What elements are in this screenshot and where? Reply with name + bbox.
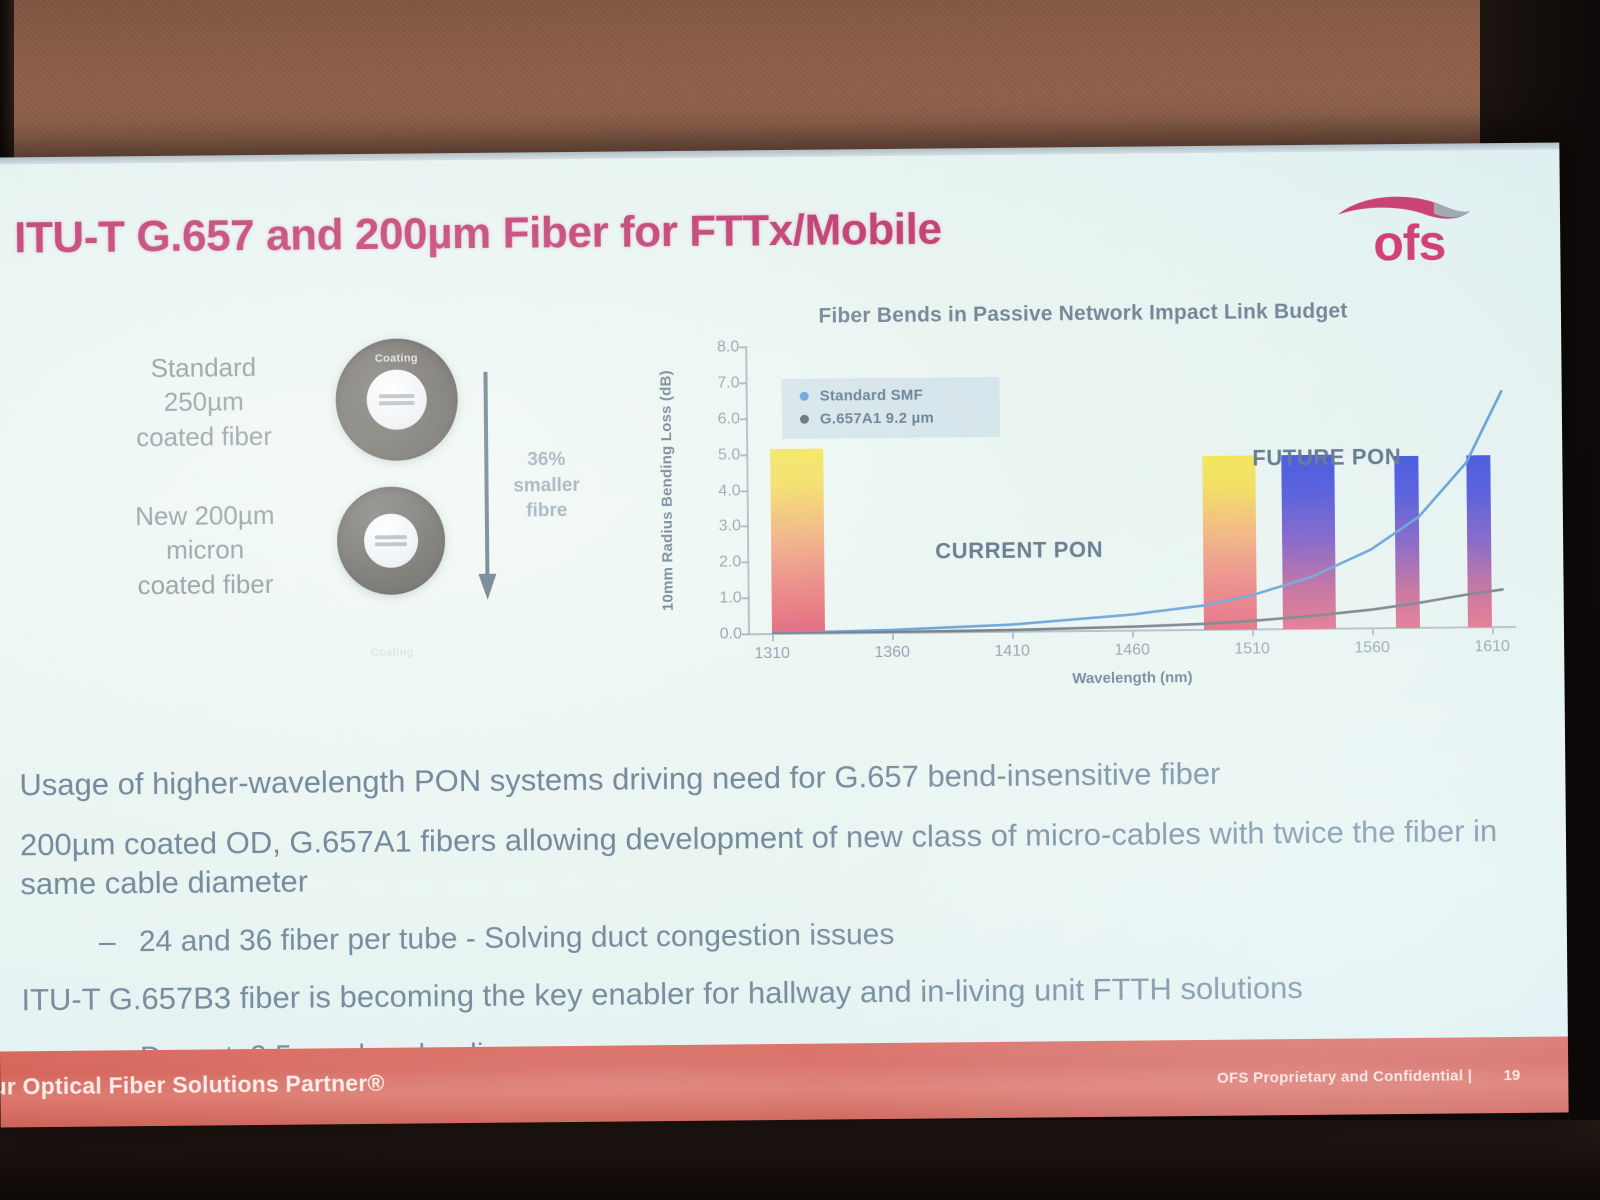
chart-x-tick-label: 1610	[1474, 638, 1510, 656]
chart-y-tick-label: 8.0	[681, 338, 739, 357]
wall-bottom-edge	[0, 1120, 1600, 1200]
footer-page-number: 19	[1503, 1067, 1520, 1084]
chart-x-tick-mark	[892, 633, 894, 640]
chart-x-tick-mark	[772, 634, 774, 641]
core-stripes-icon	[379, 391, 415, 408]
reduction-word1: smaller	[500, 472, 592, 499]
chart-y-tick-label: 5.0	[682, 446, 740, 465]
fiber-comparison-diagram: Standard 250µm coated fiber New 200µm mi…	[83, 337, 606, 632]
standard-fiber-line1: Standard	[93, 349, 313, 385]
new-fiber-label: New 200µm micron coated fiber	[95, 497, 316, 602]
legend-swatch-g657a1	[800, 415, 809, 424]
chart-x-tick-label: 1310	[754, 645, 790, 663]
projected-slide: ITU-T G.657 and 200µm Fiber for FTTx/Mob…	[0, 142, 1569, 1127]
legend-item-g657a1: G.657A1 9.2 µm	[800, 409, 992, 428]
chart-y-tick-label: 3.0	[683, 518, 741, 537]
subbullet-dash: –	[99, 923, 139, 962]
chart-x-tick-label: 1460	[1114, 641, 1150, 659]
body-bullet-3: ITU-T G.657B3 fiber is becoming the key …	[21, 966, 1521, 1020]
slide-canvas: ITU-T G.657 and 200µm Fiber for FTTx/Mob…	[0, 142, 1569, 1127]
footer-confidential-note: OFS Proprietary and Confidential |	[1217, 1067, 1472, 1086]
size-reduction-callout: 36% smaller fibre	[475, 365, 597, 616]
annotation-current-pon: CURRENT PON	[935, 537, 1103, 565]
standard-fiber-line2: 250µm	[94, 384, 314, 420]
chart-y-tick-label: 6.0	[682, 410, 740, 429]
chart-x-tick-mark	[1492, 627, 1494, 634]
annotation-future-pon: FUTURE PON	[1252, 444, 1401, 471]
new-fiber-line3: coated fiber	[95, 566, 315, 602]
chart-y-tick-label: 2.0	[683, 554, 741, 573]
chart-x-tick-mark	[1012, 632, 1014, 639]
new-fiber-line2: micron	[95, 532, 315, 568]
chart-title: Fiber Bends in Passive Network Impact Li…	[633, 298, 1533, 331]
chart-x-axis-label: Wavelength (nm)	[748, 666, 1516, 690]
legend-swatch-standard-smf	[800, 392, 809, 401]
subbullet-1-text: 24 and 36 fiber per tube - Solving duct …	[139, 918, 895, 958]
chart-y-tick-label: 7.0	[681, 374, 739, 393]
series-g657a1-curve	[772, 589, 1504, 633]
bending-loss-chart: Fiber Bends in Passive Network Impact Li…	[633, 298, 1537, 737]
body-bullet-2: 200µm coated OD, G.657A1 fibers allowing…	[20, 811, 1521, 905]
legend-label-g657a1: G.657A1 9.2 µm	[820, 410, 934, 428]
chart-x-tick-mark	[1132, 631, 1134, 638]
chart-x-tick-label: 1560	[1354, 639, 1390, 657]
page-title: ITU-T G.657 and 200µm Fiber for FTTx/Mob…	[14, 204, 942, 263]
chart-x-tick-mark	[1372, 628, 1374, 635]
chart-y-tick-label: 0.0	[684, 625, 742, 644]
legend-label-standard-smf: Standard SMF	[820, 387, 923, 405]
size-reduction-text: 36% smaller fibre	[500, 447, 593, 525]
ofs-wordmark: ofs	[1344, 217, 1474, 268]
reduction-percent: 36%	[500, 447, 592, 474]
chart-x-tick-label: 1360	[874, 644, 910, 662]
chart-y-tick-label: 1.0	[684, 589, 742, 608]
chart-legend: Standard SMF G.657A1 9.2 µm	[782, 377, 1001, 439]
coating-caption-200um: Coating	[338, 646, 446, 659]
standard-fiber-label: Standard 250µm coated fiber	[93, 349, 314, 454]
fiber-core-200um	[364, 513, 419, 568]
footer-tagline: our Optical Fiber Solutions Partner®	[0, 1070, 385, 1101]
standard-fiber-line3: coated fiber	[94, 418, 314, 454]
new-fiber-line1: New 200µm	[95, 497, 315, 533]
body-bullet-1: Usage of higher-wavelength PON systems d…	[19, 751, 1519, 805]
ofs-logo: ofs	[1334, 191, 1475, 284]
coating-caption-250um: Coating	[335, 352, 457, 365]
chart-x-tick-mark	[1252, 629, 1254, 636]
fiber-core-250um	[366, 369, 427, 430]
slide-footer: our Optical Fiber Solutions Partner® OFS…	[0, 1036, 1569, 1127]
chart-x-tick-label: 1410	[994, 643, 1030, 661]
core-stripes-icon	[375, 532, 408, 549]
legend-item-standard-smf: Standard SMF	[800, 386, 992, 405]
reduction-word2: fibre	[501, 498, 593, 525]
chart-y-axis-label: 10mm Radius Bending Loss (dB)	[657, 346, 684, 636]
body-subbullet-1: –24 and 36 fiber per tube - Solving duct…	[99, 910, 1521, 962]
chart-y-tick-label: 4.0	[683, 482, 741, 501]
chart-x-tick-label: 1510	[1234, 640, 1270, 658]
